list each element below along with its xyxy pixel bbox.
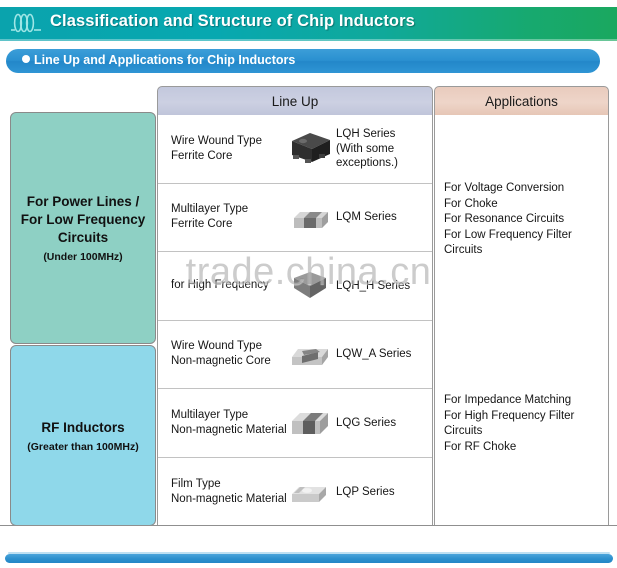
category-rf-inductors-title: RF Inductors <box>41 419 124 437</box>
lineup-type-line-1: Film Type <box>171 477 296 492</box>
application-item: For Impedance Matching <box>444 393 609 409</box>
lineup-row-series: LQH Series (With some exceptions.) <box>336 127 431 171</box>
lineup-row-series: LQP Series <box>336 485 431 500</box>
applications-column-body: For Voltage Conversion For Choke For Res… <box>434 115 609 526</box>
page-title-band: Classification and Structure of Chip Ind… <box>0 7 617 41</box>
application-item: For High Frequency Filter Circuits <box>444 409 609 440</box>
film-type-inductor-photo <box>286 472 334 512</box>
lineup-row-type: Film Type Non-magnetic Material <box>171 477 296 507</box>
bottom-divider <box>0 525 617 526</box>
applications-divider <box>435 343 608 344</box>
lineup-row-type: Wire Wound Type Non-magnetic Core <box>171 339 296 369</box>
lineup-row-type: Wire Wound Type Ferrite Core <box>171 134 296 164</box>
lineup-series-line-3: exceptions.) <box>336 156 431 171</box>
lineup-row-type: Multilayer Type Ferrite Core <box>171 202 296 232</box>
lineup-row: for High Frequency LQH_H Series <box>158 252 432 321</box>
lineup-type-line-1: Wire Wound Type <box>171 134 296 149</box>
application-item: For Low Frequency Filter Circuits <box>444 228 609 259</box>
lineup-type-line-2: Non-magnetic Material <box>171 423 296 438</box>
application-item: For Voltage Conversion <box>444 181 609 197</box>
section-banner-text: Line Up and Applications for Chip Induct… <box>34 53 295 67</box>
section-banner: Line Up and Applications for Chip Induct… <box>6 49 600 73</box>
lineup-series-line-1: LQP Series <box>336 485 431 500</box>
application-item: For Resonance Circuits <box>444 212 609 228</box>
lineup-series-line-1: LQM Series <box>336 210 431 225</box>
lineup-series-line-1: LQG Series <box>336 416 431 431</box>
applications-rf-inductors: For Impedance Matching For High Frequenc… <box>444 393 609 455</box>
lineup-row-type: for High Frequency <box>171 278 296 293</box>
lineup-type-line-1: Multilayer Type <box>171 408 296 423</box>
column-header-lineup: Line Up <box>157 86 433 116</box>
lineup-row-series: LQG Series <box>336 416 431 431</box>
lineup-type-line-2: Ferrite Core <box>171 217 296 232</box>
wire-wound-ferrite-inductor-photo <box>286 129 334 169</box>
category-power-lines-subtitle: (Under 100MHz) <box>43 251 122 263</box>
bullet-icon <box>22 55 30 63</box>
lineup-row: Multilayer Type Non-magnetic Material LQ… <box>158 389 432 458</box>
page-title: Classification and Structure of Chip Ind… <box>50 12 415 31</box>
applications-power-lines: For Voltage Conversion For Choke For Res… <box>444 181 609 259</box>
category-title-line-2: For Low Frequency <box>21 211 146 229</box>
category-rf-inductors: RF Inductors (Greater than 100MHz) <box>10 345 156 526</box>
lineup-series-line-1: LQH_H Series <box>336 279 431 294</box>
wire-wound-nonmagnetic-inductor-photo <box>286 335 334 375</box>
lineup-type-line-1: Multilayer Type <box>171 202 296 217</box>
lineup-type-line-2: Non-magnetic Core <box>171 354 296 369</box>
application-item: For RF Choke <box>444 440 609 456</box>
coil-inductor-icon <box>8 11 44 37</box>
multilayer-nonmagnetic-inductor-photo <box>286 403 334 443</box>
category-power-lines-title: For Power Lines / For Low Frequency Circ… <box>21 193 146 247</box>
lineup-row-series: LQH_H Series <box>336 279 431 294</box>
lineup-series-line-1: LQH Series <box>336 127 431 142</box>
category-power-lines: For Power Lines / For Low Frequency Circ… <box>10 112 156 344</box>
lineup-row-series: LQM Series <box>336 210 431 225</box>
lineup-row: Wire Wound Type Ferrite Core LQH Series … <box>158 115 432 184</box>
lineup-series-line-2: (With some <box>336 142 431 157</box>
lineup-type-line-1: Wire Wound Type <box>171 339 296 354</box>
lineup-row: Multilayer Type Ferrite Core LQM Series <box>158 184 432 253</box>
lineup-row-type: Multilayer Type Non-magnetic Material <box>171 408 296 438</box>
category-title-line-3: Circuits <box>21 229 146 247</box>
category-rf-inductors-subtitle: (Greater than 100MHz) <box>27 441 138 453</box>
lineup-type-line-2: Non-magnetic Material <box>171 492 296 507</box>
section-banner-label: Line Up and Applications for Chip Induct… <box>22 53 295 67</box>
multilayer-ferrite-inductor-photo <box>286 198 334 238</box>
lineup-type-line-2: Ferrite Core <box>171 149 296 164</box>
high-frequency-inductor-photo <box>286 266 334 306</box>
lineup-series-line-1: LQW_A Series <box>336 347 431 362</box>
lineup-row: Wire Wound Type Non-magnetic Core LQW_A … <box>158 321 432 390</box>
bottom-bar <box>5 554 613 563</box>
lineup-column-body: Wire Wound Type Ferrite Core LQH Series … <box>157 115 433 526</box>
classification-table: Line Up Applications For Power Lines / F… <box>0 86 617 526</box>
lineup-row-series: LQW_A Series <box>336 347 431 362</box>
column-header-applications: Applications <box>434 86 609 116</box>
application-item: For Choke <box>444 197 609 213</box>
lineup-row: Film Type Non-magnetic Material LQP Seri… <box>158 458 432 527</box>
category-title-line-1: For Power Lines / <box>21 193 146 211</box>
lineup-type-line-2: for High Frequency <box>171 278 296 293</box>
